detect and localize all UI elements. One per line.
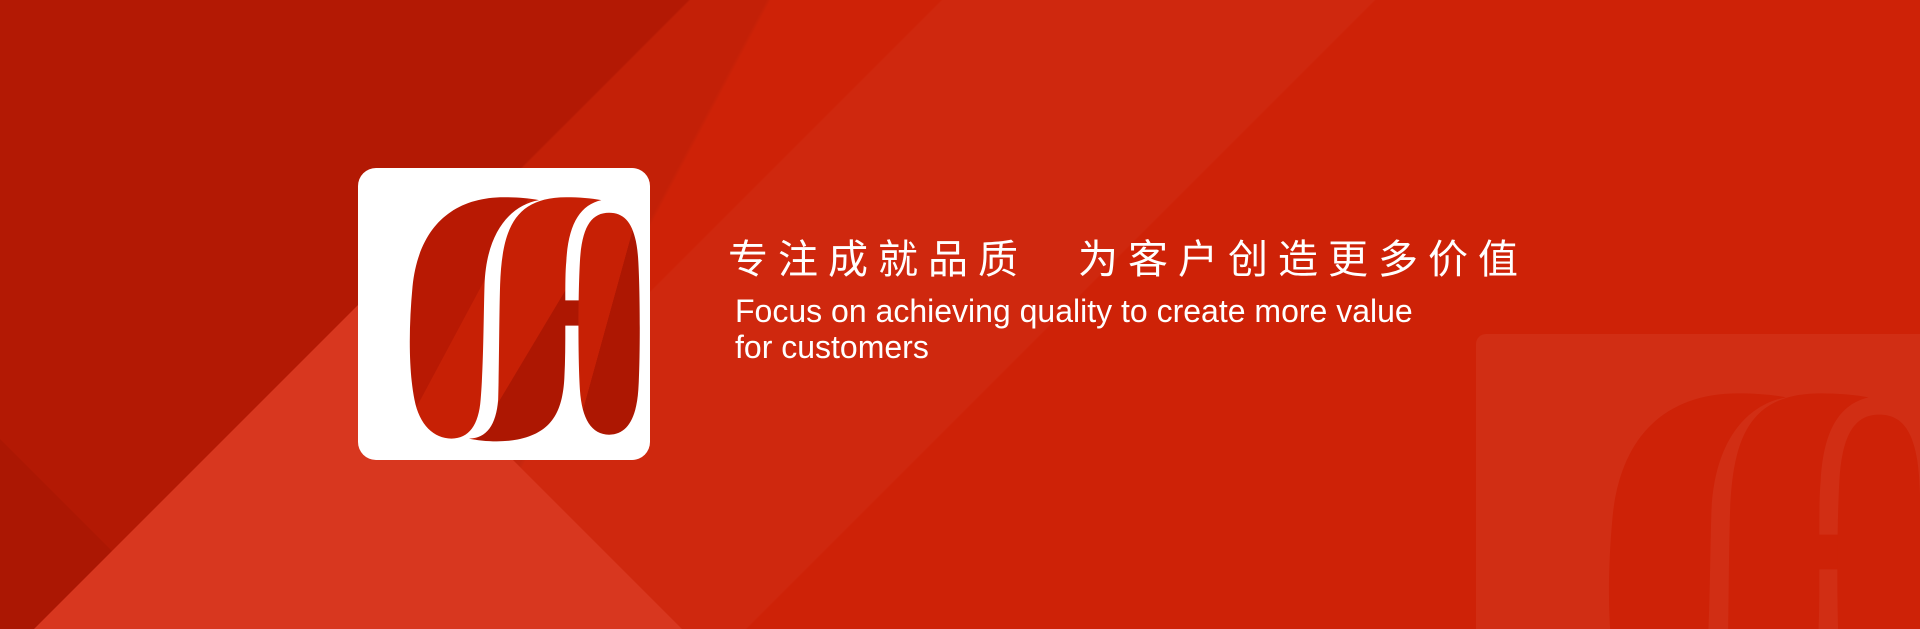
banner-subline-line-1: Focus on achieving quality to create mor…: [735, 293, 1413, 329]
banner-headline: 专注成就品质 为客户创造更多价值: [728, 238, 1848, 282]
background-corner-wedge: [0, 439, 190, 629]
banner-subline-line-2: for customers: [735, 329, 929, 365]
hero-banner: 专注成就品质 为客户创造更多价值 Focus on achieving qual…: [0, 0, 1920, 629]
watermark-panel: [1476, 334, 1920, 629]
banner-copy: 专注成就品质 为客户创造更多价值 Focus on achieving qual…: [728, 238, 1848, 366]
logo-watermark-icon: [1538, 356, 1920, 629]
company-logo: [358, 168, 650, 460]
banner-subline: Focus on achieving quality to create mor…: [735, 294, 1510, 366]
